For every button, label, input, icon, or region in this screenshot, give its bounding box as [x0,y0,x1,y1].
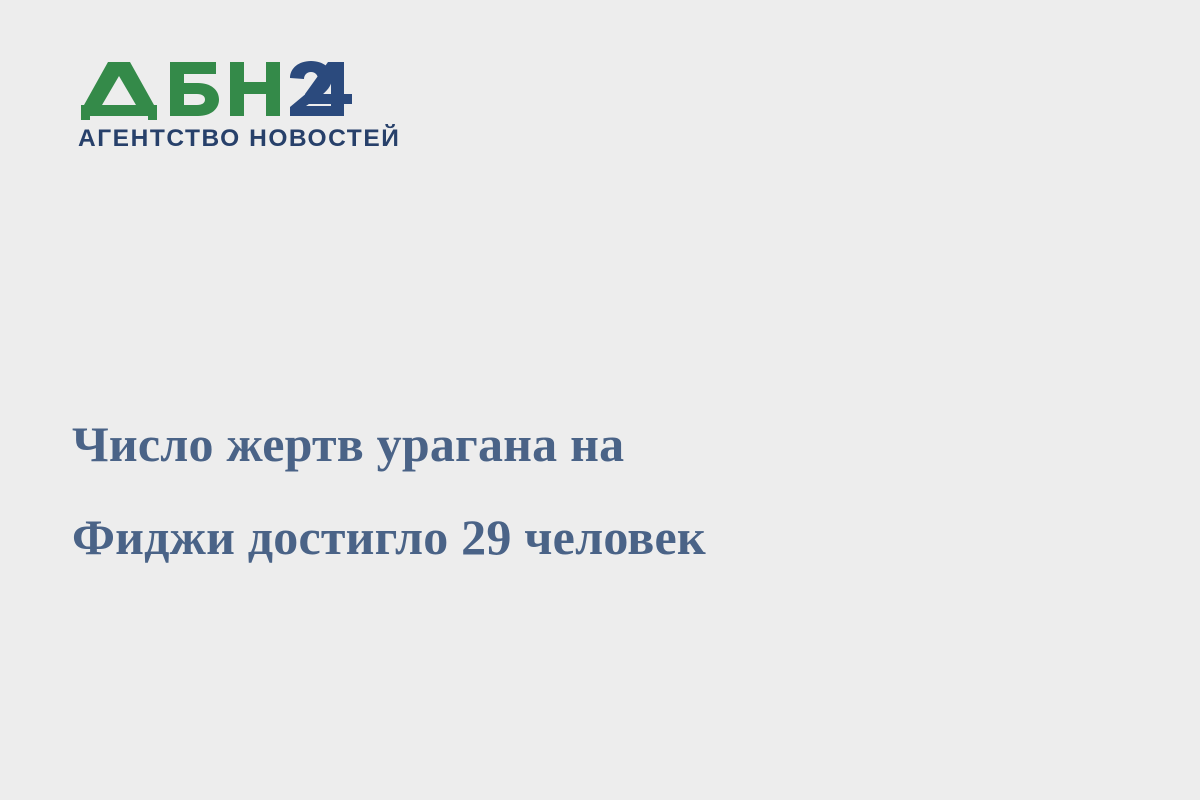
logo-tagline: АГЕНТСТВО НОВОСТЕЙ [78,127,378,152]
headline-line-1: Число жертв урагана на [72,398,862,491]
headline-line-2: Фиджи достигло 29 человек [72,491,862,584]
brand-logo: АГЕНТСТВО НОВОСТЕЙ [78,58,378,152]
chart-bar-3 [1078,288,1144,713]
chart-bar-2 [995,231,1061,800]
chart-bar-1 [911,152,978,625]
news-card: АГЕНТСТВО НОВОСТЕЙ Число жертв урагана н… [0,0,1200,800]
logo-wordmark-icon [78,58,356,120]
headline: Число жертв урагана на Фиджи достигло 29… [72,398,862,584]
